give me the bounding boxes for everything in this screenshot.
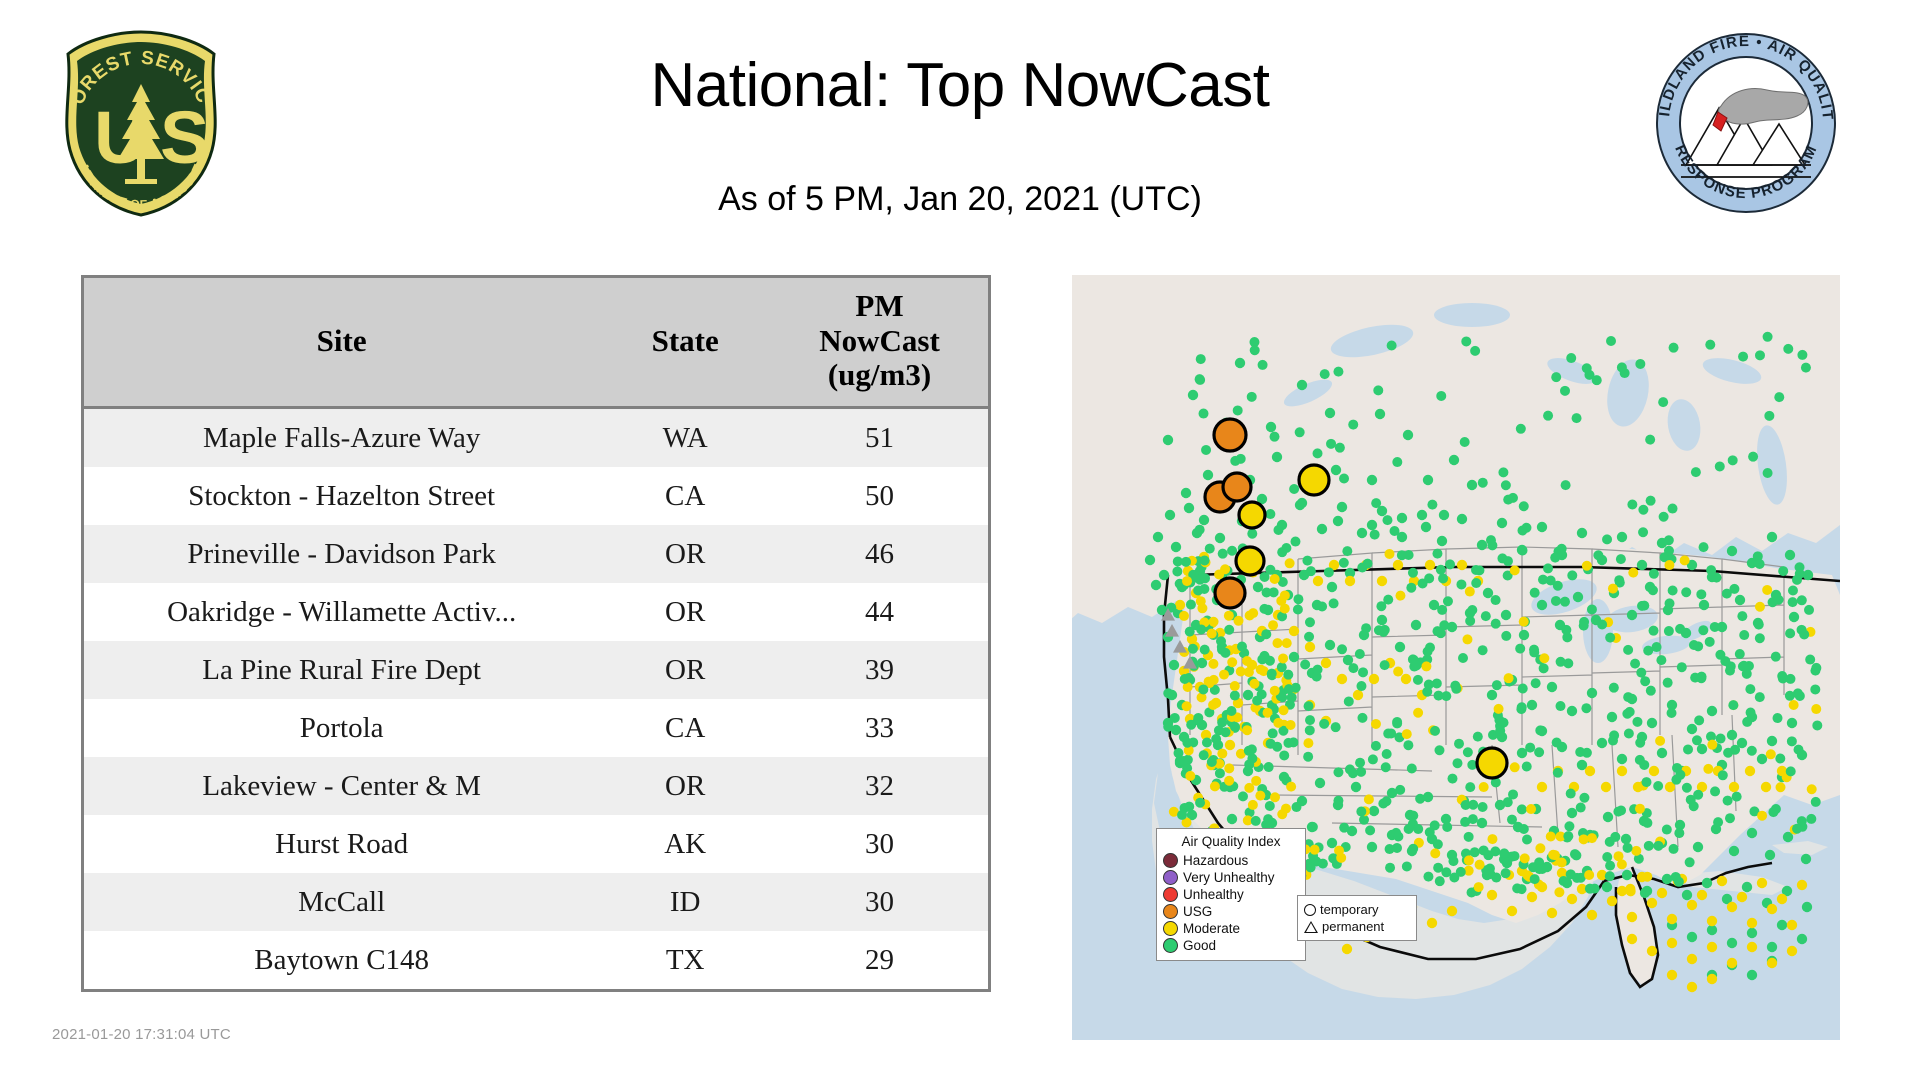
top-site-marker[interactable] [1236,547,1264,575]
monitor-dot-good[interactable] [1297,498,1307,508]
monitor-dot-good[interactable] [1339,823,1349,833]
monitor-dot-good[interactable] [1433,839,1443,849]
monitor-dot-good[interactable] [1408,811,1418,821]
monitor-dot-good[interactable] [1273,525,1283,535]
monitor-dot-moderate[interactable] [1248,608,1258,618]
monitor-dot-good[interactable] [1385,863,1395,873]
monitor-dot-good[interactable] [1683,744,1693,754]
monitor-dot-good[interactable] [1393,831,1403,841]
monitor-dot-moderate[interactable] [1227,657,1237,667]
monitor-dot-good[interactable] [1811,797,1821,807]
monitor-dot-moderate[interactable] [1567,894,1577,904]
monitor-dot-moderate[interactable] [1729,782,1739,792]
monitor-dot-good[interactable] [1373,385,1383,395]
monitor-dot-good[interactable] [1640,676,1650,686]
monitor-dot-good[interactable] [1659,512,1669,522]
monitor-dot-good[interactable] [1635,738,1645,748]
monitor-dot-good[interactable] [1518,683,1528,693]
monitor-dot-good[interactable] [1263,814,1273,824]
monitor-dot-good[interactable] [1170,713,1180,723]
monitor-dot-good[interactable] [1293,594,1303,604]
monitor-dot-good[interactable] [1413,675,1423,685]
monitor-dot-good[interactable] [1227,814,1237,824]
monitor-dot-moderate[interactable] [1717,876,1727,886]
monitor-dot-good[interactable] [1703,764,1713,774]
monitor-dot-good[interactable] [1454,739,1464,749]
monitor-dot-good[interactable] [1547,682,1557,692]
monitor-dot-good[interactable] [1331,722,1341,732]
monitor-dot-good[interactable] [1572,873,1582,883]
monitor-dot-moderate[interactable] [1649,766,1659,776]
monitor-dot-good[interactable] [1539,653,1549,663]
monitor-dot-moderate[interactable] [1667,970,1677,980]
monitor-dot-good[interactable] [1662,874,1672,884]
monitor-dot-moderate[interactable] [1321,658,1331,668]
monitor-dot-good[interactable] [1380,625,1390,635]
monitor-dot-good[interactable] [1689,640,1699,650]
monitor-dot-good[interactable] [1195,525,1205,535]
monitor-dot-good[interactable] [1382,749,1392,759]
monitor-dot-good[interactable] [1163,435,1173,445]
monitor-dot-good[interactable] [1535,843,1545,853]
monitor-dot-moderate[interactable] [1767,958,1777,968]
monitor-dot-good[interactable] [1563,831,1573,841]
monitor-dot-good[interactable] [1792,824,1802,834]
monitor-dot-good[interactable] [1767,736,1777,746]
monitor-dot-good[interactable] [1331,465,1341,475]
monitor-dot-good[interactable] [1497,518,1507,528]
monitor-dot-good[interactable] [1358,667,1368,677]
monitor-dot-good[interactable] [1597,620,1607,630]
monitor-dot-good[interactable] [1584,870,1594,880]
monitor-dot-good[interactable] [1397,513,1407,523]
monitor-dot-good[interactable] [1754,620,1764,630]
monitor-dot-moderate[interactable] [1272,638,1282,648]
monitor-dot-good[interactable] [1664,546,1674,556]
monitor-dot-good[interactable] [1699,600,1709,610]
monitor-dot-good[interactable] [1357,713,1367,723]
monitor-dot-moderate[interactable] [1273,718,1283,728]
monitor-dot-good[interactable] [1339,473,1349,483]
monitor-dot-moderate[interactable] [1342,944,1352,954]
monitor-dot-good[interactable] [1348,420,1358,430]
monitor-dot-good[interactable] [1561,480,1571,490]
monitor-dot-good[interactable] [1367,475,1377,485]
monitor-dot-moderate[interactable] [1727,902,1737,912]
monitor-dot-good[interactable] [1220,648,1230,658]
monitor-dot-good[interactable] [1631,846,1641,856]
monitor-dot-good[interactable] [1381,762,1391,772]
monitor-dot-moderate[interactable] [1707,974,1717,984]
monitor-dot-moderate[interactable] [1305,642,1315,652]
monitor-dot-good[interactable] [1693,842,1703,852]
monitor-dot-good[interactable] [1557,544,1567,554]
monitor-dot-good[interactable] [1383,595,1393,605]
monitor-dot-moderate[interactable] [1279,705,1289,715]
monitor-dot-moderate[interactable] [1207,757,1217,767]
monitor-dot-moderate[interactable] [1181,557,1191,567]
table-row[interactable]: PortolaCA33 [84,699,988,757]
monitor-dot-good[interactable] [1621,834,1631,844]
monitor-dot-moderate[interactable] [1457,560,1467,570]
monitor-dot-moderate[interactable] [1401,674,1411,684]
monitor-dot-good[interactable] [1356,767,1366,777]
monitor-dot-moderate[interactable] [1687,954,1697,964]
monitor-dot-good[interactable] [1501,480,1511,490]
monitor-dot-good[interactable] [1386,728,1396,738]
monitor-dot-good[interactable] [1415,794,1425,804]
monitor-dot-good[interactable] [1725,813,1735,823]
monitor-dot-good[interactable] [1522,761,1532,771]
monitor-dot-good[interactable] [1375,409,1385,419]
monitor-dot-good[interactable] [1243,690,1253,700]
monitor-dot-moderate[interactable] [1447,906,1457,916]
monitor-dot-good[interactable] [1768,597,1778,607]
monitor-dot-good[interactable] [1478,478,1488,488]
monitor-dot-moderate[interactable] [1607,896,1617,906]
monitor-dot-good[interactable] [1635,359,1645,369]
monitor-dot-moderate[interactable] [1797,880,1807,890]
monitor-dot-good[interactable] [1461,800,1471,810]
monitor-dot-good[interactable] [1613,807,1623,817]
monitor-dot-moderate[interactable] [1270,574,1280,584]
monitor-dot-good[interactable] [1797,595,1807,605]
monitor-dot-good[interactable] [1789,612,1799,622]
monitor-dot-good[interactable] [1705,637,1715,647]
monitor-dot-moderate[interactable] [1286,782,1296,792]
monitor-dot-good[interactable] [1408,844,1418,854]
monitor-dot-good[interactable] [1804,605,1814,615]
monitor-dot-good[interactable] [1237,642,1247,652]
monitor-dot-good[interactable] [1439,510,1449,520]
monitor-dot-moderate[interactable] [1200,555,1210,565]
monitor-dot-good[interactable] [1411,660,1421,670]
monitor-dot-good[interactable] [1357,562,1367,572]
monitor-dot-good[interactable] [1794,745,1804,755]
monitor-dot-good[interactable] [1491,619,1501,629]
monitor-dot-good[interactable] [1317,601,1327,611]
monitor-dot-good[interactable] [1218,549,1228,559]
monitor-dot-good[interactable] [1172,566,1182,576]
monitor-dot-moderate[interactable] [1487,890,1497,900]
monitor-dot-good[interactable] [1664,560,1674,570]
monitor-dot-good[interactable] [1525,743,1535,753]
monitor-dot-good[interactable] [1728,700,1738,710]
monitor-dot-good[interactable] [1272,742,1282,752]
monitor-dot-good[interactable] [1481,611,1491,621]
monitor-dot-good[interactable] [1413,708,1423,718]
monitor-dot-good[interactable] [1503,797,1513,807]
monitor-dot-moderate[interactable] [1210,781,1220,791]
monitor-dot-good[interactable] [1636,668,1646,678]
monitor-dot-good[interactable] [1551,372,1561,382]
monitor-dot-good[interactable] [1707,706,1717,716]
monitor-dot-moderate[interactable] [1188,644,1198,654]
monitor-dot-good[interactable] [1333,367,1343,377]
monitor-dot-good[interactable] [1442,822,1452,832]
monitor-dot-good[interactable] [1305,617,1315,627]
monitor-dot-good[interactable] [1572,413,1582,423]
monitor-dot-good[interactable] [1555,701,1565,711]
monitor-dot-good[interactable] [1421,522,1431,532]
monitor-dot-good[interactable] [1516,704,1526,714]
monitor-dot-good[interactable] [1199,515,1209,525]
monitor-dot-moderate[interactable] [1757,878,1767,888]
monitor-dot-good[interactable] [1635,804,1645,814]
monitor-dot-good[interactable] [1563,658,1573,668]
monitor-dot-good[interactable] [1623,645,1633,655]
monitor-dot-good[interactable] [1491,873,1501,883]
monitor-dot-good[interactable] [1742,717,1752,727]
monitor-dot-good[interactable] [1774,392,1784,402]
monitor-dot-good[interactable] [1622,870,1632,880]
monitor-dot-good[interactable] [1778,566,1788,576]
monitor-dot-good[interactable] [1351,782,1361,792]
monitor-dot-moderate[interactable] [1747,918,1757,928]
monitor-dot-good[interactable] [1735,595,1745,605]
monitor-dot-good[interactable] [1642,818,1652,828]
monitor-dot-good[interactable] [1318,859,1328,869]
monitor-dot-good[interactable] [1265,509,1275,519]
monitor-dot-moderate[interactable] [1197,603,1207,613]
monitor-dot-good[interactable] [1402,729,1412,739]
monitor-dot-good[interactable] [1668,504,1678,514]
monitor-dot-moderate[interactable] [1667,938,1677,948]
monitor-dot-good[interactable] [1729,846,1739,856]
monitor-dot-moderate[interactable] [1289,626,1299,636]
monitor-dot-moderate[interactable] [1252,696,1262,706]
monitor-dot-moderate[interactable] [1224,763,1234,773]
monitor-dot-good[interactable] [1277,547,1287,557]
monitor-dot-good[interactable] [1682,783,1692,793]
monitor-dot-good[interactable] [1566,789,1576,799]
monitor-dot-good[interactable] [1609,683,1619,693]
table-row[interactable]: Prineville - Davidson ParkOR46 [84,525,988,583]
monitor-dot-good[interactable] [1592,375,1602,385]
monitor-dot-good[interactable] [1755,350,1765,360]
monitor-dot-good[interactable] [1407,763,1417,773]
monitor-dot-good[interactable] [1762,585,1772,595]
monitor-dot-good[interactable] [1630,659,1640,669]
monitor-dot-good[interactable] [1693,790,1703,800]
monitor-dot-good[interactable] [1643,646,1653,656]
monitor-dot-good[interactable] [1406,583,1416,593]
monitor-dot-good[interactable] [1614,851,1624,861]
monitor-dot-good[interactable] [1464,832,1474,842]
monitor-dot-moderate[interactable] [1186,600,1196,610]
monitor-dot-moderate[interactable] [1285,558,1295,568]
monitor-dot-good[interactable] [1561,625,1571,635]
monitor-dot-good[interactable] [1436,565,1446,575]
monitor-dot-good[interactable] [1462,634,1472,644]
monitor-dot-good[interactable] [1718,770,1728,780]
monitor-dot-good[interactable] [1768,807,1778,817]
monitor-dot-good[interactable] [1787,736,1797,746]
monitor-dot-good[interactable] [1365,825,1375,835]
monitor-dot-good[interactable] [1687,724,1697,734]
monitor-dot-good[interactable] [1608,736,1618,746]
monitor-dot-moderate[interactable] [1527,892,1537,902]
monitor-dot-good[interactable] [1515,644,1525,654]
monitor-dot-moderate[interactable] [1180,674,1190,684]
monitor-dot-good[interactable] [1169,660,1179,670]
monitor-dot-good[interactable] [1635,755,1645,765]
monitor-dot-good[interactable] [1247,392,1257,402]
monitor-dot-moderate[interactable] [1182,701,1192,711]
monitor-dot-good[interactable] [1498,467,1508,477]
monitor-dot-moderate[interactable] [1647,898,1657,908]
monitor-dot-moderate[interactable] [1427,918,1437,928]
monitor-dot-good[interactable] [1270,792,1280,802]
monitor-dot-good[interactable] [1653,781,1663,791]
monitor-dot-good[interactable] [1564,821,1574,831]
monitor-dot-good[interactable] [1520,853,1530,863]
monitor-dot-good[interactable] [1517,525,1527,535]
monitor-dot-good[interactable] [1337,502,1347,512]
monitor-dot-good[interactable] [1259,604,1269,614]
monitor-dot-moderate[interactable] [1225,740,1235,750]
top-site-marker[interactable] [1223,473,1251,501]
monitor-dot-good[interactable] [1268,728,1278,738]
monitor-dot-good[interactable] [1707,740,1717,750]
monitor-dot-good[interactable] [1755,633,1765,643]
monitor-dot-moderate[interactable] [1209,675,1219,685]
monitor-dot-good[interactable] [1560,386,1570,396]
monitor-dot-good[interactable] [1253,582,1263,592]
monitor-dot-good[interactable] [1582,748,1592,758]
monitor-dot-good[interactable] [1467,480,1477,490]
monitor-dot-good[interactable] [1395,785,1405,795]
monitor-dot-good[interactable] [1202,737,1212,747]
monitor-dot-moderate[interactable] [1208,700,1218,710]
monitor-dot-good[interactable] [1303,752,1313,762]
monitor-dot-good[interactable] [1737,611,1747,621]
monitor-dot-good[interactable] [1655,736,1665,746]
monitor-dot-good[interactable] [1479,782,1489,792]
column-header-pm-nowcast[interactable]: PM NowCast (ug/m3) [771,278,988,408]
monitor-dot-moderate[interactable] [1657,888,1667,898]
monitor-dot-good[interactable] [1690,673,1700,683]
monitor-dot-good[interactable] [1624,729,1634,739]
monitor-dot-good[interactable] [1597,738,1607,748]
monitor-dot-good[interactable] [1320,369,1330,379]
monitor-dot-good[interactable] [1801,363,1811,373]
monitor-dot-good[interactable] [1310,845,1320,855]
monitor-dot-good[interactable] [1775,754,1785,764]
monitor-dot-good[interactable] [1648,585,1658,595]
monitor-dot-good[interactable] [1325,640,1335,650]
monitor-dot-moderate[interactable] [1242,725,1252,735]
monitor-dot-good[interactable] [1669,343,1679,353]
monitor-dot-good[interactable] [1640,887,1650,897]
monitor-dot-good[interactable] [1510,762,1520,772]
monitor-dot-moderate[interactable] [1244,759,1254,769]
monitor-dot-good[interactable] [1494,704,1504,714]
monitor-dot-good[interactable] [1706,565,1716,575]
monitor-dot-good[interactable] [1543,563,1553,573]
monitor-dot-moderate[interactable] [1230,722,1240,732]
monitor-dot-moderate[interactable] [1207,629,1217,639]
monitor-dot-good[interactable] [1477,818,1487,828]
monitor-dot-good[interactable] [1685,857,1695,867]
monitor-dot-moderate[interactable] [1369,674,1379,684]
monitor-dot-good[interactable] [1773,713,1783,723]
monitor-dot-good[interactable] [1605,871,1615,881]
monitor-dot-good[interactable] [1327,582,1337,592]
monitor-dot-moderate[interactable] [1224,611,1234,621]
monitor-dot-good[interactable] [1501,631,1511,641]
monitor-dot-good[interactable] [1537,522,1547,532]
monitor-dot-moderate[interactable] [1251,776,1261,786]
monitor-dot-moderate[interactable] [1747,942,1757,952]
monitor-dot-good[interactable] [1356,807,1366,817]
monitor-dot-good[interactable] [1181,488,1191,498]
monitor-dot-good[interactable] [1559,876,1569,886]
monitor-dot-good[interactable] [1411,620,1421,630]
monitor-dot-good[interactable] [1747,970,1757,980]
monitor-dot-good[interactable] [1233,405,1243,415]
monitor-dot-good[interactable] [1355,649,1365,659]
monitor-dot-good[interactable] [1702,878,1712,888]
monitor-dot-good[interactable] [1153,532,1163,542]
monitor-dot-good[interactable] [1517,545,1527,555]
monitor-dot-moderate[interactable] [1198,684,1208,694]
monitor-dot-good[interactable] [1722,589,1732,599]
monitor-dot-moderate[interactable] [1617,766,1627,776]
monitor-dot-moderate[interactable] [1284,684,1294,694]
monitor-dot-good[interactable] [1747,928,1757,938]
monitor-dot-good[interactable] [1387,340,1397,350]
monitor-dot-good[interactable] [1653,841,1663,851]
monitor-dot-good[interactable] [1765,850,1775,860]
monitor-dot-moderate[interactable] [1278,653,1288,663]
monitor-dot-good[interactable] [1571,850,1581,860]
monitor-dot-good[interactable] [1290,537,1300,547]
monitor-dot-good[interactable] [1457,514,1467,524]
monitor-dot-good[interactable] [1404,550,1414,560]
monitor-dot-good[interactable] [1664,535,1674,545]
monitor-dot-good[interactable] [1434,691,1444,701]
monitor-dot-good[interactable] [1739,630,1749,640]
monitor-dot-good[interactable] [1593,550,1603,560]
monitor-dot-good[interactable] [1623,692,1633,702]
monitor-dot-good[interactable] [1487,690,1497,700]
monitor-dot-good[interactable] [1449,872,1459,882]
monitor-dot-good[interactable] [1230,456,1240,466]
monitor-dot-good[interactable] [1745,684,1755,694]
monitor-dot-good[interactable] [1539,663,1549,673]
monitor-dot-good[interactable] [1458,653,1468,663]
monitor-dot-moderate[interactable] [1761,782,1771,792]
monitor-dot-good[interactable] [1710,786,1720,796]
monitor-dot-good[interactable] [1230,691,1240,701]
monitor-dot-moderate[interactable] [1178,756,1188,766]
monitor-dot-good[interactable] [1319,719,1329,729]
monitor-dot-moderate[interactable] [1277,809,1287,819]
monitor-dot-good[interactable] [1335,443,1345,453]
monitor-dot-good[interactable] [1344,696,1354,706]
monitor-dot-good[interactable] [1251,816,1261,826]
monitor-dot-good[interactable] [1300,660,1310,670]
monitor-dot-good[interactable] [1727,938,1737,948]
monitor-dot-good[interactable] [1380,660,1390,670]
monitor-dot-good[interactable] [1785,691,1795,701]
monitor-dot-good[interactable] [1607,712,1617,722]
monitor-dot-good[interactable] [1473,732,1483,742]
monitor-dot-good[interactable] [1617,532,1627,542]
monitor-dot-moderate[interactable] [1727,958,1737,968]
monitor-dot-good[interactable] [1716,734,1726,744]
